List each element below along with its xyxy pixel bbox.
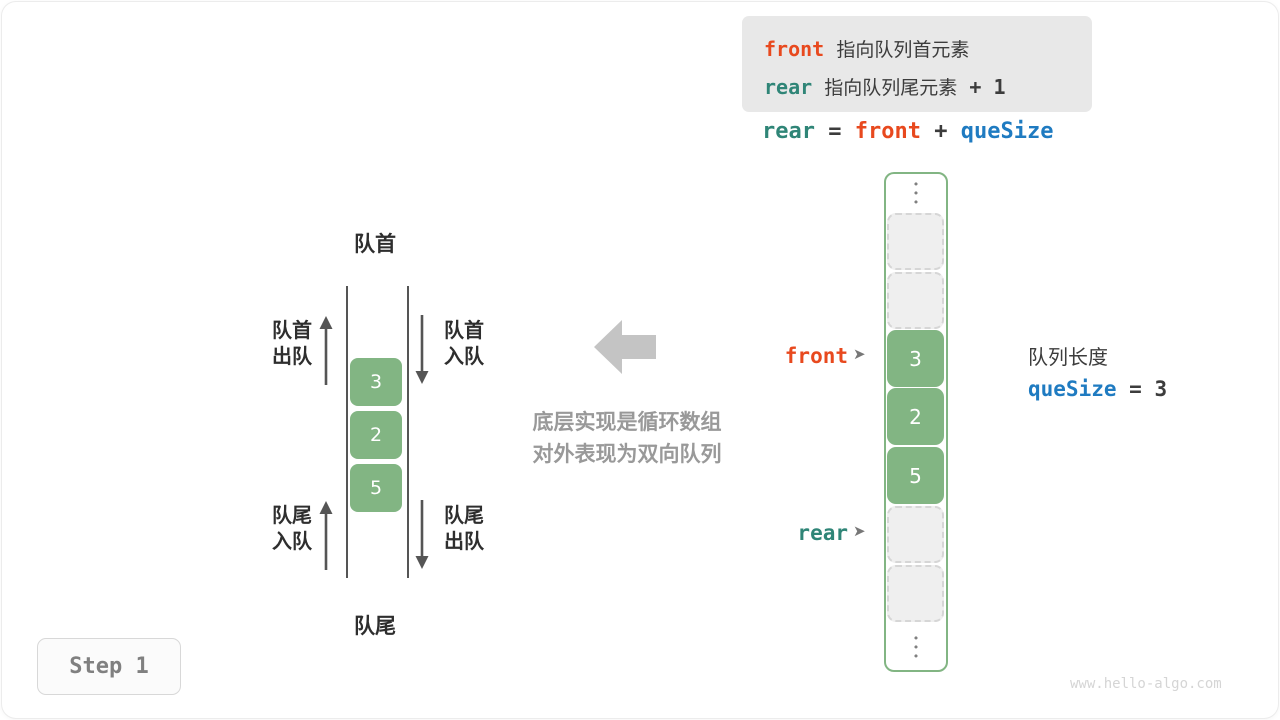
legend-front-text: 指向队列首元素 — [836, 39, 969, 61]
array-cell — [887, 272, 944, 329]
pointer-legend-box: front 指向队列首元素 rear 指向队列尾元素 + 1 — [742, 16, 1092, 112]
array-cell — [887, 565, 944, 622]
op-label-tail-dequeue: 队尾 出队 — [444, 503, 508, 554]
array-cell — [887, 213, 944, 270]
quesize-name: queSize — [1028, 377, 1117, 401]
op-label-head-dequeue: 队首 出队 — [248, 318, 312, 369]
array-cell: 5 — [887, 447, 944, 504]
legend-rear-text: 指向队列尾元素 — [824, 77, 957, 99]
legend-line-front: front 指向队列首元素 — [764, 35, 969, 62]
op-label-head-enqueue: 队首 入队 — [444, 318, 508, 369]
ellipsis-top-icon: ••• — [884, 180, 948, 207]
pointer-label-front: front — [700, 344, 848, 368]
legend-line-rear: rear 指向队列尾元素 + 1 — [764, 73, 1006, 100]
arrow-left-icon — [592, 316, 658, 378]
implementation-caption: 底层实现是循环数组 对外表现为双向队列 — [492, 407, 762, 470]
step-badge: Step 1 — [37, 638, 181, 695]
formula-rear: rear — [762, 119, 815, 144]
array-cell: 3 — [887, 330, 944, 387]
arrow-up-icon — [316, 498, 336, 572]
formula-plus: + — [934, 119, 947, 144]
arrow-down-icon — [412, 498, 432, 572]
quesize-expression: queSize = 3 — [1028, 377, 1167, 401]
deque-cell: 2 — [350, 411, 402, 459]
formula-equals: = — [828, 119, 841, 144]
quesize-number: 3 — [1154, 377, 1167, 401]
deque-rail-left — [346, 286, 348, 578]
pointer-arrowhead-front-icon: ➤ — [853, 345, 866, 363]
arrow-down-icon — [412, 313, 432, 387]
arrow-up-icon — [316, 313, 336, 387]
watermark: www.hello-algo.com — [1070, 676, 1222, 692]
legend-rear-suffix: + 1 — [969, 75, 1005, 99]
array-cell: 2 — [887, 388, 944, 445]
formula-front: front — [855, 119, 921, 144]
deque-cell: 3 — [350, 358, 402, 406]
op-label-tail-enqueue: 队尾 入队 — [248, 503, 312, 554]
deque-head-label: 队首 — [305, 228, 445, 258]
deque-tail-label: 队尾 — [305, 610, 445, 640]
legend-front-keyword: front — [764, 37, 824, 61]
legend-rear-keyword: rear — [764, 75, 812, 99]
ellipsis-bottom-icon: ••• — [884, 634, 948, 661]
deque-cell: 5 — [350, 464, 402, 512]
rear-formula: rear = front + queSize — [762, 119, 1053, 144]
quesize-equals: = — [1129, 377, 1142, 401]
array-cell — [887, 506, 944, 563]
quesize-caption: 队列长度 — [1028, 341, 1108, 370]
diagram-canvas: front 指向队列首元素 rear 指向队列尾元素 + 1 rear = fr… — [0, 0, 1280, 720]
formula-quesize: queSize — [961, 119, 1054, 144]
pointer-arrowhead-rear-icon: ➤ — [853, 522, 866, 540]
pointer-label-rear: rear — [700, 521, 848, 545]
deque-rail-right — [407, 286, 409, 578]
